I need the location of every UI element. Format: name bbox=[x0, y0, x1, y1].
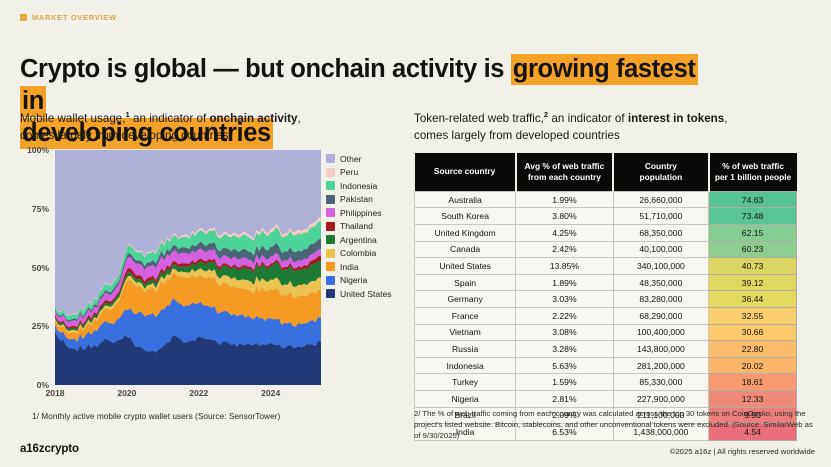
table: Source countryAvg % of web trafficfrom e… bbox=[414, 153, 797, 441]
legend-item: Indonesia bbox=[326, 179, 406, 193]
population-cell: 40,100,000 bbox=[613, 241, 709, 258]
header-line: % of web traffic bbox=[713, 161, 794, 172]
population-cell: 68,290,000 bbox=[613, 308, 709, 325]
avg-pct-cell: 2.81% bbox=[516, 390, 613, 407]
web-traffic-table: Source countryAvg % of web trafficfrom e… bbox=[414, 153, 797, 441]
left-subtitle-part-a: Mobile wallet usage, bbox=[20, 112, 126, 125]
avg-pct-cell: 13.85% bbox=[516, 258, 613, 275]
table-body: Australia1.99%26,660,00074.63South Korea… bbox=[415, 191, 797, 440]
y-tick-label: 50% bbox=[32, 263, 49, 273]
country-cell: Canada bbox=[415, 241, 516, 258]
legend-label: Peru bbox=[340, 167, 358, 177]
country-cell: Russia bbox=[415, 341, 516, 358]
legend-swatch-icon bbox=[326, 168, 335, 177]
country-cell: Indonesia bbox=[415, 357, 516, 374]
legend-swatch-icon bbox=[326, 262, 335, 271]
legend-item: Peru bbox=[326, 166, 406, 180]
table-head: Source countryAvg % of web trafficfrom e… bbox=[415, 153, 797, 191]
right-subtitle-part-c: , bbox=[724, 112, 727, 125]
avg-pct-cell: 2.22% bbox=[516, 308, 613, 325]
square-marker-icon bbox=[20, 14, 27, 21]
avg-pct-cell: 2.42% bbox=[516, 241, 613, 258]
population-cell: 281,200,000 bbox=[613, 357, 709, 374]
legend-swatch-icon bbox=[326, 249, 335, 258]
avg-pct-cell: 1.89% bbox=[516, 274, 613, 291]
country-cell: Australia bbox=[415, 191, 516, 208]
table-row: France2.22%68,290,00032.55 bbox=[415, 308, 797, 325]
table-row: Russia3.28%143,800,00022.80 bbox=[415, 341, 797, 358]
right-footnote: 2/ The % of web traffic coming from each… bbox=[414, 408, 814, 441]
per-billion-cell: 20.02 bbox=[709, 357, 797, 374]
table-row: Australia1.99%26,660,00074.63 bbox=[415, 191, 797, 208]
legend-swatch-icon bbox=[326, 276, 335, 285]
legend-item: India bbox=[326, 260, 406, 274]
table-row: United Kingdom4.25%68,350,00062.15 bbox=[415, 225, 797, 242]
right-subtitle-part-a: Token-related web traffic, bbox=[414, 112, 544, 125]
per-billion-cell: 30.66 bbox=[709, 324, 797, 341]
country-cell: Germany bbox=[415, 291, 516, 308]
chart-svg bbox=[55, 150, 321, 385]
header-line: per 1 billion people bbox=[713, 172, 794, 183]
population-cell: 68,350,000 bbox=[613, 225, 709, 242]
header-line: population bbox=[617, 172, 705, 183]
population-cell: 227,900,000 bbox=[613, 390, 709, 407]
left-footnote: 1/ Monthly active mobile crypto wallet u… bbox=[32, 411, 280, 421]
avg-pct-cell: 3.28% bbox=[516, 341, 613, 358]
table-row: Vietnam3.08%100,400,00030.66 bbox=[415, 324, 797, 341]
headline-line-1: Crypto is global — but onchain activity … bbox=[20, 53, 720, 117]
y-tick-label: 75% bbox=[32, 204, 49, 214]
left-panel-subtitle: Mobile wallet usage,1 an indicator of on… bbox=[20, 109, 400, 145]
table-header-cell-1: Avg % of web trafficfrom each country bbox=[516, 153, 613, 191]
y-tick-label: 25% bbox=[32, 321, 49, 331]
table-row: Indonesia5.63%281,200,00020.02 bbox=[415, 357, 797, 374]
country-cell: France bbox=[415, 308, 516, 325]
x-tick-label: 2020 bbox=[117, 388, 136, 398]
table-header-cell-0: Source country bbox=[415, 153, 516, 191]
legend-swatch-icon bbox=[326, 289, 335, 298]
y-tick-label: 100% bbox=[27, 145, 49, 155]
country-cell: Spain bbox=[415, 274, 516, 291]
legend-label: Thailand bbox=[340, 221, 373, 231]
per-billion-cell: 36.44 bbox=[709, 291, 797, 308]
left-subtitle-bold: onchain activity bbox=[209, 112, 297, 125]
copyright-text: ©2025 a16z | All rights reserved worldwi… bbox=[670, 447, 815, 456]
country-cell: United Kingdom bbox=[415, 225, 516, 242]
population-cell: 85,330,000 bbox=[613, 374, 709, 391]
population-cell: 48,350,000 bbox=[613, 274, 709, 291]
legend-swatch-icon bbox=[326, 195, 335, 204]
x-tick-label: 2022 bbox=[189, 388, 208, 398]
per-billion-cell: 22.80 bbox=[709, 341, 797, 358]
legend-item: Nigeria bbox=[326, 274, 406, 288]
legend-item: Thailand bbox=[326, 220, 406, 234]
per-billion-cell: 40.73 bbox=[709, 258, 797, 275]
avg-pct-cell: 1.99% bbox=[516, 191, 613, 208]
chart-plot-area bbox=[55, 150, 321, 385]
header-line: Source country bbox=[418, 166, 512, 177]
chart-legend: OtherPeruIndonesiaPakistanPhilippinesTha… bbox=[326, 152, 406, 301]
left-subtitle-part-c: , bbox=[297, 112, 300, 125]
population-cell: 100,400,000 bbox=[613, 324, 709, 341]
per-billion-cell: 73.48 bbox=[709, 208, 797, 225]
table-row: South Korea3.80%51,710,00073.48 bbox=[415, 208, 797, 225]
legend-label: Nigeria bbox=[340, 275, 367, 285]
legend-item: Argentina bbox=[326, 233, 406, 247]
right-panel-subtitle: Token-related web traffic,2 an indicator… bbox=[414, 109, 814, 145]
per-billion-cell: 12.33 bbox=[709, 390, 797, 407]
per-billion-cell: 39.12 bbox=[709, 274, 797, 291]
table-header-row: Source countryAvg % of web trafficfrom e… bbox=[415, 153, 797, 191]
eyebrow: MARKET OVERVIEW bbox=[20, 13, 117, 22]
header-line: Country bbox=[617, 161, 705, 172]
chart-x-axis: 2018202020222024 bbox=[55, 388, 321, 402]
legend-label: Other bbox=[340, 154, 362, 164]
per-billion-cell: 74.63 bbox=[709, 191, 797, 208]
population-cell: 143,800,000 bbox=[613, 341, 709, 358]
legend-swatch-icon bbox=[326, 222, 335, 231]
country-cell: Vietnam bbox=[415, 324, 516, 341]
legend-item: Pakistan bbox=[326, 193, 406, 207]
legend-label: Indonesia bbox=[340, 181, 377, 191]
legend-label: United States bbox=[340, 289, 392, 299]
legend-item: Other bbox=[326, 152, 406, 166]
legend-label: Philippines bbox=[340, 208, 382, 218]
population-cell: 340,100,000 bbox=[613, 258, 709, 275]
header-line: Avg % of web traffic bbox=[520, 161, 609, 172]
legend-item: Philippines bbox=[326, 206, 406, 220]
table-row: Spain1.89%48,350,00039.12 bbox=[415, 274, 797, 291]
avg-pct-cell: 3.08% bbox=[516, 324, 613, 341]
legend-swatch-icon bbox=[326, 181, 335, 190]
avg-pct-cell: 4.25% bbox=[516, 225, 613, 242]
population-cell: 83,280,000 bbox=[613, 291, 709, 308]
avg-pct-cell: 5.63% bbox=[516, 357, 613, 374]
legend-swatch-icon bbox=[326, 235, 335, 244]
population-cell: 51,710,000 bbox=[613, 208, 709, 225]
avg-pct-cell: 1.59% bbox=[516, 374, 613, 391]
stacked-area-chart: 0%25%50%75%100% 2018202020222024 OtherPe… bbox=[20, 150, 405, 398]
table-row: Nigeria2.81%227,900,00012.33 bbox=[415, 390, 797, 407]
headline-plain: Crypto is global — but onchain activity … bbox=[20, 55, 511, 83]
table-row: Canada2.42%40,100,00060.23 bbox=[415, 241, 797, 258]
right-subtitle-part-b: an indicator of bbox=[548, 112, 628, 125]
country-cell: South Korea bbox=[415, 208, 516, 225]
table-header-cell-3: % of web trafficper 1 billion people bbox=[709, 153, 797, 191]
population-cell: 26,660,000 bbox=[613, 191, 709, 208]
table-row: Turkey1.59%85,330,00018.61 bbox=[415, 374, 797, 391]
legend-item: United States bbox=[326, 287, 406, 301]
slide-root: MARKET OVERVIEW Crypto is global — but o… bbox=[0, 0, 831, 467]
right-subtitle-bold: interest in tokens bbox=[628, 112, 724, 125]
left-subtitle-line-2: comes largely from developing countries bbox=[20, 129, 228, 142]
country-cell: Nigeria bbox=[415, 390, 516, 407]
table-row: United States13.85%340,100,00040.73 bbox=[415, 258, 797, 275]
per-billion-cell: 60.23 bbox=[709, 241, 797, 258]
chart-y-axis: 0%25%50%75%100% bbox=[20, 150, 52, 385]
x-tick-label: 2018 bbox=[45, 388, 64, 398]
country-cell: Turkey bbox=[415, 374, 516, 391]
legend-label: Argentina bbox=[340, 235, 377, 245]
table-row: Germany3.03%83,280,00036.44 bbox=[415, 291, 797, 308]
left-subtitle-part-b: an indicator of bbox=[130, 112, 210, 125]
header-line: from each country bbox=[520, 172, 609, 183]
per-billion-cell: 62.15 bbox=[709, 225, 797, 242]
legend-label: Colombia bbox=[340, 248, 376, 258]
legend-label: India bbox=[340, 262, 359, 272]
country-cell: United States bbox=[415, 258, 516, 275]
table-header-cell-2: Countrypopulation bbox=[613, 153, 709, 191]
avg-pct-cell: 3.80% bbox=[516, 208, 613, 225]
eyebrow-label: MARKET OVERVIEW bbox=[32, 13, 117, 22]
legend-item: Colombia bbox=[326, 247, 406, 261]
per-billion-cell: 18.61 bbox=[709, 374, 797, 391]
per-billion-cell: 32.55 bbox=[709, 308, 797, 325]
legend-label: Pakistan bbox=[340, 194, 373, 204]
right-subtitle-line-2: comes largely from developed countries bbox=[414, 129, 620, 142]
legend-swatch-icon bbox=[326, 208, 335, 217]
a16zcrypto-logo: a16zcrypto bbox=[20, 443, 79, 455]
legend-swatch-icon bbox=[326, 154, 335, 163]
x-tick-label: 2024 bbox=[261, 388, 280, 398]
avg-pct-cell: 3.03% bbox=[516, 291, 613, 308]
